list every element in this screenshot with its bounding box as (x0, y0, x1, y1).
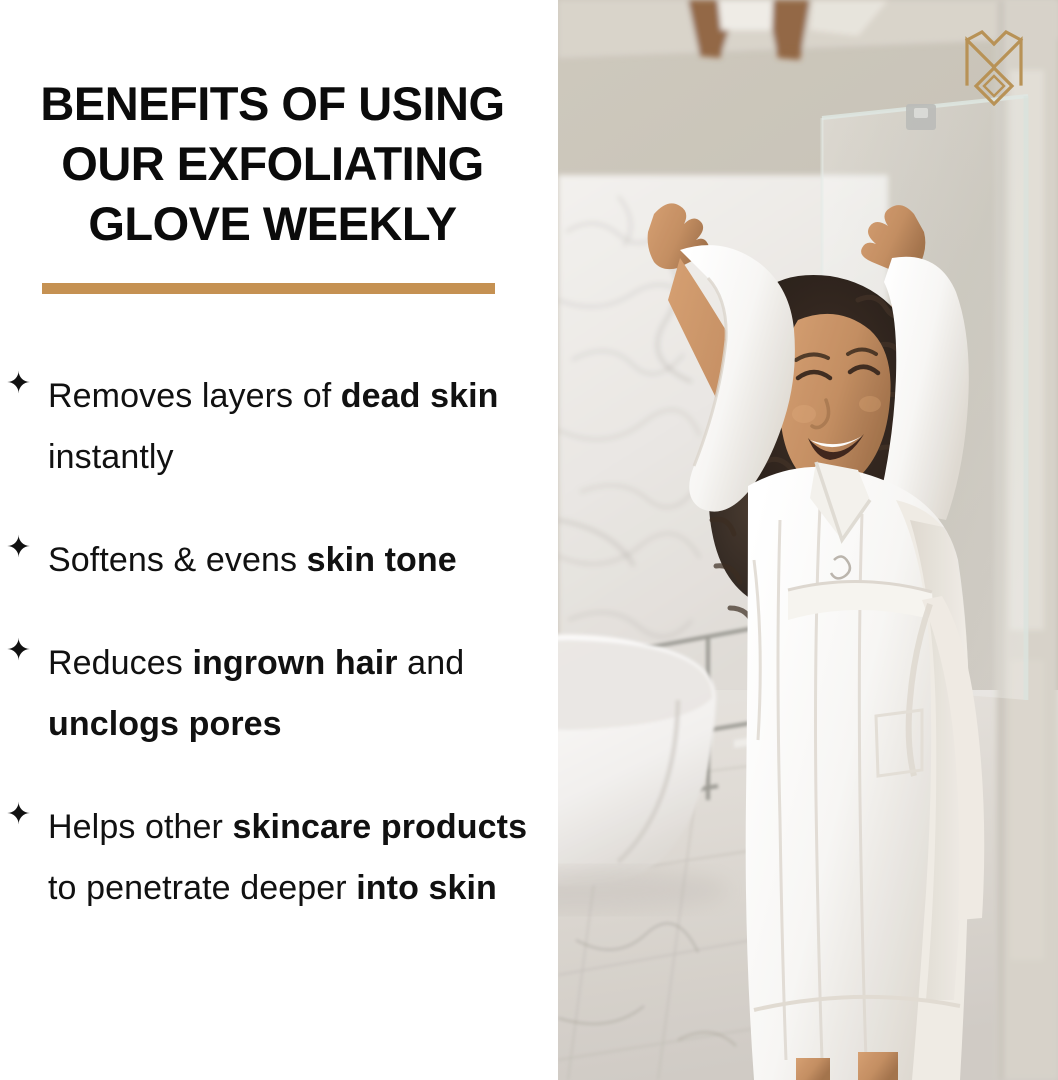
benefits-list: ✦ Removes layers of dead skin instantly … (0, 366, 552, 919)
benefit-text-2: Softens & evens skin tone (48, 541, 457, 579)
headline-line-1: BENEFITS OF USING (0, 74, 545, 134)
sparkle-star-icon: ✦ (6, 362, 31, 406)
benefit-text-4: Helps other skincare products to penetra… (48, 808, 527, 907)
page-title: BENEFITS OF USING OUR EXFOLIATING GLOVE … (0, 74, 545, 254)
gold-divider-rule (42, 283, 495, 294)
sparkle-star-icon: ✦ (6, 793, 31, 837)
ad-creative-canvas: BENEFITS OF USING OUR EXFOLIATING GLOVE … (0, 0, 1058, 1080)
text-panel: BENEFITS OF USING OUR EXFOLIATING GLOVE … (0, 0, 558, 1080)
sparkle-star-icon: ✦ (6, 526, 31, 570)
sparkle-star-icon: ✦ (6, 629, 31, 673)
bathroom-photo-illustration (558, 0, 1058, 1080)
headline-line-2: OUR EXFOLIATING (0, 134, 545, 194)
headline-line-3: GLOVE WEEKLY (0, 194, 545, 254)
lifestyle-photo (558, 0, 1058, 1080)
list-item: ✦ Softens & evens skin tone (0, 530, 552, 591)
list-item: ✦ Helps other skincare products to penet… (0, 797, 552, 919)
list-item: ✦ Reduces ingrown hair and unclogs pores (0, 633, 552, 755)
list-item: ✦ Removes layers of dead skin instantly (0, 366, 552, 488)
benefit-text-1: Removes layers of dead skin instantly (48, 377, 499, 476)
benefit-text-3: Reduces ingrown hair and unclogs pores (48, 644, 464, 743)
